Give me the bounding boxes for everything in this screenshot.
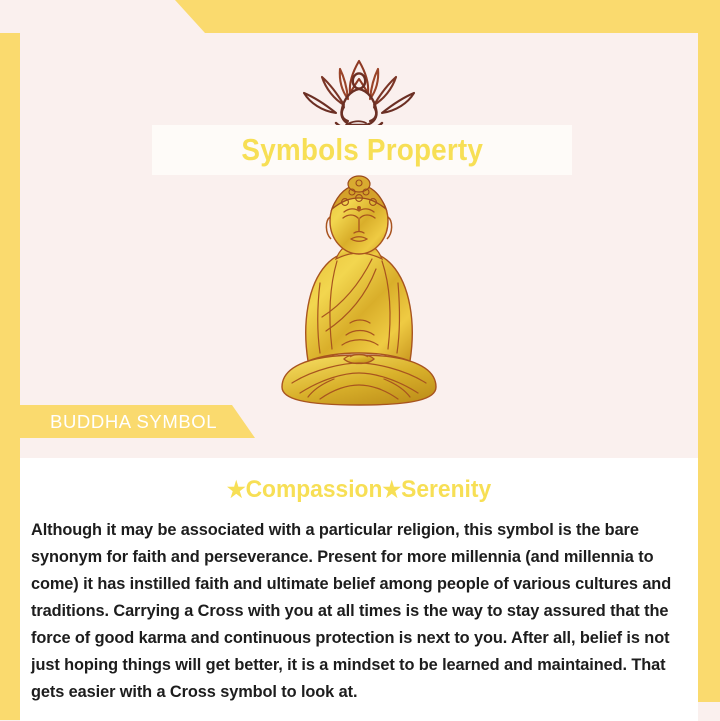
section-headline: ★Compassion★Serenity <box>43 476 676 504</box>
headline-word-serenity: Serenity <box>401 476 491 503</box>
star-icon-2: ★ <box>382 477 401 502</box>
page-inner: BUDDHA STONES Symbols Property <box>20 33 698 688</box>
page-title: Symbols Property <box>241 132 483 168</box>
decor-band-top <box>0 0 720 33</box>
poster-canvas: BUDDHA STONES Symbols Property <box>0 0 720 720</box>
lotus-meditation-icon <box>284 55 434 133</box>
hero-image <box>20 173 698 411</box>
section-body-text: Although it may be associated with a par… <box>31 516 677 705</box>
decor-band-right <box>698 0 720 702</box>
decor-band-left <box>0 33 20 720</box>
headline-word-compassion: Compassion <box>246 476 383 503</box>
badge-buddha-symbol: BUDDHA SYMBOL <box>10 405 255 438</box>
content-panel: ★Compassion★Serenity Although it may be … <box>20 458 698 721</box>
star-icon-1: ★ <box>227 477 246 502</box>
badge-label: BUDDHA SYMBOL <box>50 411 217 433</box>
golden-buddha-statue-icon <box>264 173 454 411</box>
page-title-banner: Symbols Property <box>152 125 572 175</box>
